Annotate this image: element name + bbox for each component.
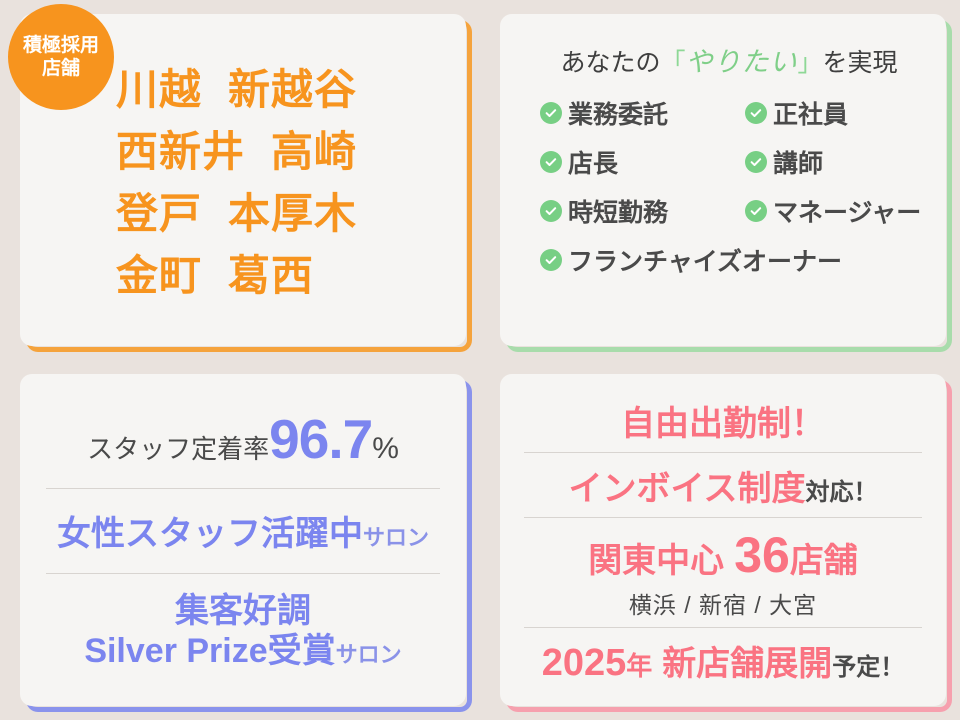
retention-stat: スタッフ定着率 96.7 % xyxy=(42,407,444,471)
stores-card-cell: 川越新越谷 西新井高崎 登戸本厚木 金町葛西 積極採用 店舗 xyxy=(0,0,480,360)
role-label: 講師 xyxy=(773,144,823,180)
divider xyxy=(524,627,922,628)
role-item: 業務委託 xyxy=(540,95,745,131)
role-label: 時短勤務 xyxy=(568,193,668,229)
check-circle-icon xyxy=(540,151,562,173)
check-circle-icon xyxy=(540,200,562,222)
award-stat: 集客好調 Silver Prize受賞 サロン xyxy=(42,591,444,671)
check-circle-icon xyxy=(540,249,562,271)
role-item: マネージャー xyxy=(745,193,924,229)
store-count-value: 36 xyxy=(734,526,790,584)
free-shift-fact: 自由出勤制！ xyxy=(520,396,926,445)
store-name: 登戸 xyxy=(116,190,202,237)
role-item: 講師 xyxy=(745,144,924,180)
close-bracket: 」 xyxy=(798,49,823,77)
roles-list: 業務委託 正社員 店長 講師 xyxy=(534,95,924,278)
divider xyxy=(46,573,440,574)
check-circle-icon xyxy=(745,102,767,124)
divider xyxy=(46,488,440,489)
facts-card: 自由出勤制！ インボイス制度 対応！ 関東中心 36 店舗 xyxy=(500,374,946,706)
facts-card-cell: 自由出勤制！ インボイス制度 対応！ 関東中心 36 店舗 xyxy=(480,360,960,720)
headline-highlight: やりたい xyxy=(686,47,798,78)
divider xyxy=(524,452,922,453)
store-count-unit: 店舗 xyxy=(790,533,858,582)
check-circle-icon xyxy=(745,151,767,173)
roles-card-cell: あなたの「やりたい」を実現 業務委託 正社員 店長 xyxy=(480,0,960,360)
active-recruiting-badge: 積極採用 店舗 xyxy=(8,4,114,110)
role-label: フランチャイズオーナー xyxy=(568,242,842,278)
invoice-main: インボイス制度 xyxy=(569,461,806,510)
expansion-fact: 2025 年 新店舗展開 予定！ xyxy=(520,636,926,685)
check-circle-icon xyxy=(745,200,767,222)
headline-prefix: あなたの xyxy=(560,49,660,77)
award-line-2-suffix: サロン xyxy=(336,642,402,668)
expansion-suffix: 予定！ xyxy=(832,647,904,682)
expansion-year-unit: 年 xyxy=(626,646,652,683)
invoice-fact: インボイス制度 対応！ xyxy=(520,461,926,510)
store-name: 高崎 xyxy=(271,128,357,175)
store-count-prefix: 関東中心 xyxy=(588,533,724,582)
store-name: 葛西 xyxy=(228,252,314,299)
role-item: 時短勤務 xyxy=(540,193,745,229)
store-row: 登戸本厚木 xyxy=(116,185,448,243)
role-label: 店長 xyxy=(568,144,618,180)
badge-line-1: 積極採用 xyxy=(23,34,99,57)
expansion-year: 2025 xyxy=(542,642,627,685)
check-circle-icon xyxy=(540,102,562,124)
retention-label: スタッフ定着率 xyxy=(87,429,269,466)
store-name: 金町 xyxy=(116,252,202,299)
infographic-board: 川越新越谷 西新井高崎 登戸本厚木 金町葛西 積極採用 店舗 xyxy=(0,0,960,720)
store-name: 川越 xyxy=(116,66,202,113)
women-stat: 女性スタッフ活躍中 サロン xyxy=(42,506,444,555)
role-item: 正社員 xyxy=(745,95,924,131)
women-suffix: サロン xyxy=(363,520,429,552)
expansion-main: 新店舗展開 xyxy=(662,636,832,685)
store-name: 本厚木 xyxy=(228,190,357,237)
invoice-suffix: 対応！ xyxy=(805,472,877,507)
role-label: 業務委託 xyxy=(568,95,668,131)
role-label: マネージャー xyxy=(773,193,921,229)
role-item: フランチャイズオーナー xyxy=(540,242,924,278)
store-row: 川越新越谷 xyxy=(116,61,448,119)
role-label: 正社員 xyxy=(773,95,848,131)
role-item: 店長 xyxy=(540,144,745,180)
store-row: 西新井高崎 xyxy=(116,123,448,181)
women-main: 女性スタッフ活躍中 xyxy=(57,506,363,555)
store-locations: 横浜 / 新宿 / 大宮 xyxy=(520,586,926,620)
retention-value: 96.7 xyxy=(269,407,372,471)
award-line-2-main: Silver Prize受賞 xyxy=(84,631,335,671)
roles-headline: あなたの「やりたい」を実現 xyxy=(534,40,924,79)
store-count-fact: 関東中心 36 店舗 横浜 / 新宿 / 大宮 xyxy=(520,526,926,620)
retention-unit: % xyxy=(372,432,399,466)
open-bracket: 「 xyxy=(660,49,685,77)
divider xyxy=(524,517,922,518)
stats-card-cell: スタッフ定着率 96.7 % 女性スタッフ活躍中 サロン 集客好調 Silver… xyxy=(0,360,480,720)
award-line-1: 集客好調 xyxy=(42,591,444,631)
roles-card: あなたの「やりたい」を実現 業務委託 正社員 店長 xyxy=(500,14,946,346)
headline-suffix: を実現 xyxy=(823,49,898,77)
stats-card: スタッフ定着率 96.7 % 女性スタッフ活躍中 サロン 集客好調 Silver… xyxy=(20,374,466,706)
store-row: 金町葛西 xyxy=(116,247,448,305)
store-name: 西新井 xyxy=(116,128,245,175)
store-name: 新越谷 xyxy=(228,66,357,113)
badge-line-2: 店舗 xyxy=(42,57,80,80)
